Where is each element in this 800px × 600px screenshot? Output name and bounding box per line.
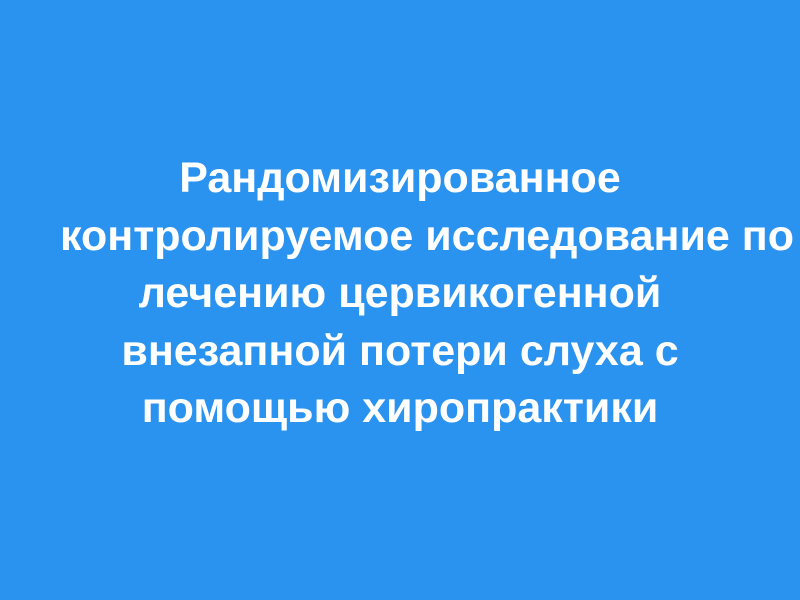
title-line-3: лечению цервикогенной: [60, 265, 740, 323]
title-line-5: помощью хиропрактики: [60, 380, 740, 438]
title-slide: Рандомизированное контролируемое исследо…: [0, 0, 800, 600]
title-line-2: контролируемое исследование по: [60, 208, 740, 266]
title-line-4: внезапной потери слуха с: [60, 323, 740, 381]
slide-title: Рандомизированное контролируемое исследо…: [60, 150, 740, 438]
title-line-1: Рандомизированное: [60, 150, 740, 208]
